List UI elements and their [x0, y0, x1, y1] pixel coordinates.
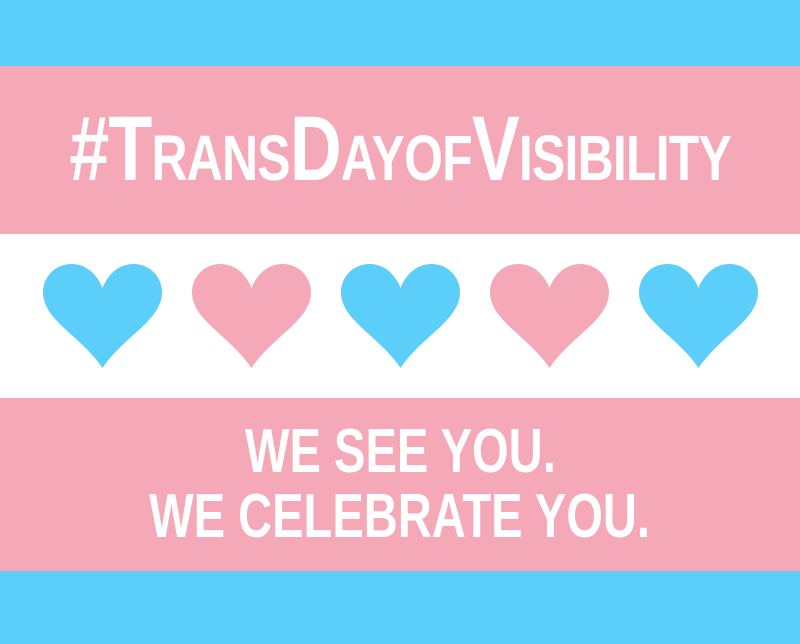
- heart-icon: [341, 264, 460, 369]
- hearts-row: [0, 234, 800, 398]
- heart-icon: [192, 264, 311, 369]
- heart-icon: [490, 264, 609, 369]
- headline-container: #TransDayofVisibility: [0, 66, 800, 234]
- heart-icon: [43, 264, 162, 369]
- stripe-blue-bottom: [0, 571, 800, 644]
- heart-icon: [639, 264, 758, 369]
- tdov-poster: #TransDayofVisibility We See You. We Cel…: [0, 0, 800, 644]
- tagline-line-1: We See You.: [245, 420, 556, 484]
- tagline-line-2: We Celebrate You.: [150, 485, 651, 549]
- hashtag-headline: #TransDayofVisibility: [69, 106, 731, 193]
- stripe-blue-top: [0, 0, 800, 66]
- tagline-container: We See You. We Celebrate You.: [0, 398, 800, 571]
